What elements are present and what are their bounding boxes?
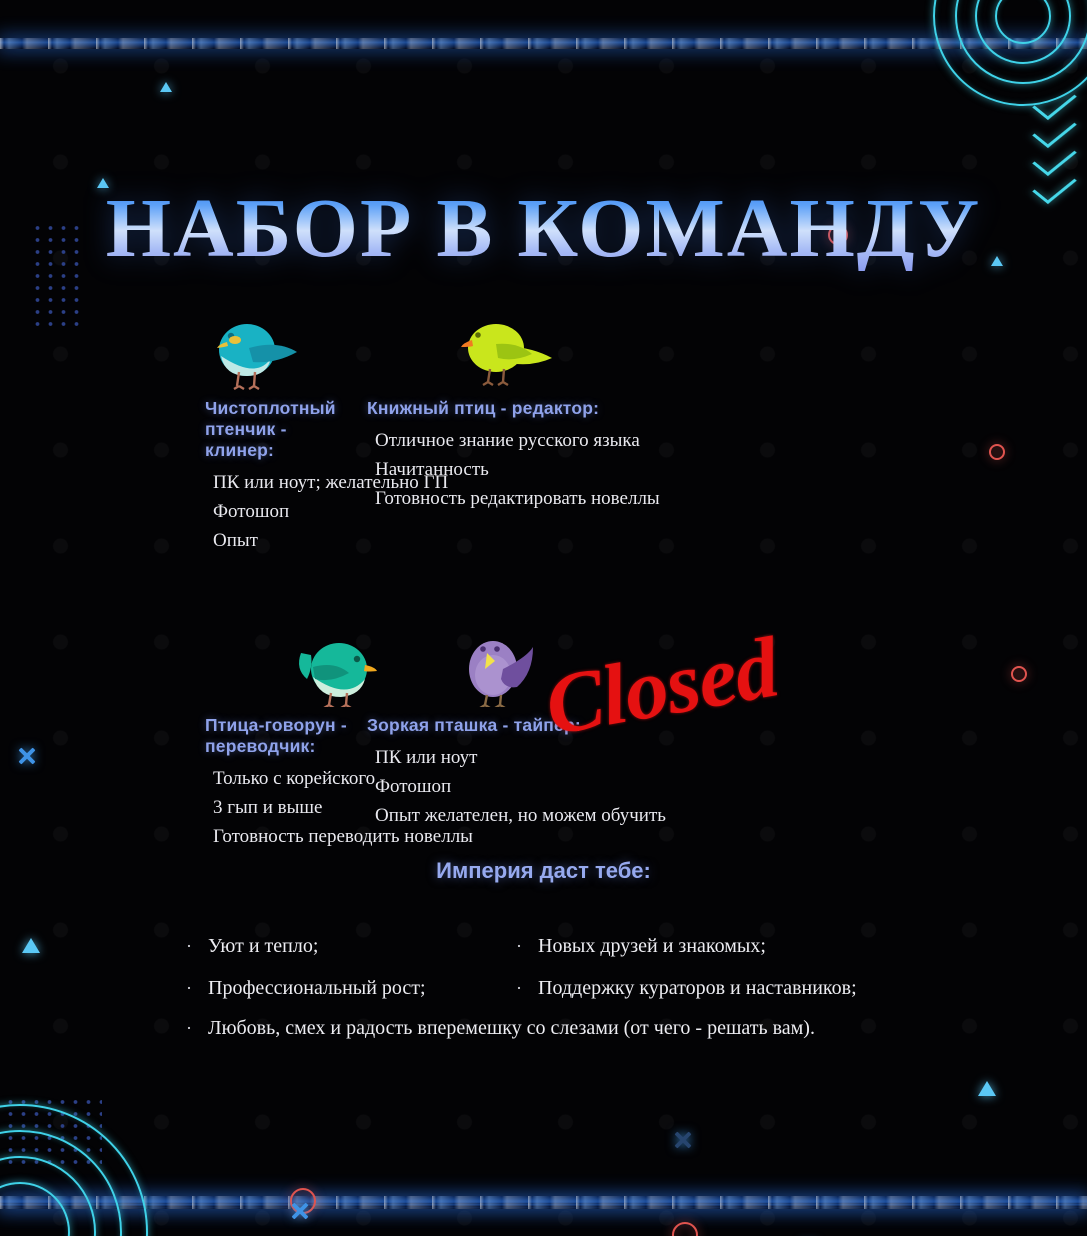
list-item: 3 гып и выше: [213, 793, 355, 822]
cyan-bird-icon: [205, 318, 355, 390]
glitch-streak-icon-bottom-thin: [0, 1203, 1087, 1207]
list-item-label: Любовь, смех и радость вперемешку со сле…: [208, 1007, 815, 1049]
role-requirements-editor: Отличное знание русского языка Начитанно…: [367, 426, 875, 513]
role-requirements-cleaner: ПК или ноут; желательно ГП Фотошоп Опыт: [205, 468, 355, 555]
list-item: ПК или ноут; желательно ГП: [213, 468, 355, 497]
list-item: Начитанность: [375, 455, 875, 484]
green-bird-icon: [367, 318, 875, 390]
glitch-streak-icon-top: [0, 38, 1087, 49]
dot-grid-icon-bottom-left: [4, 1096, 102, 1166]
glitch-streak-icon-bottom: [0, 1196, 1087, 1209]
role-title-editor: Книжный птиц - редактор:: [367, 398, 875, 419]
bullet-icon: ·: [516, 925, 522, 967]
list-item: Готовность редактировать новеллы: [375, 484, 875, 513]
poster-canvas: НАБОР В КОМАНДУ Чистоплотны: [0, 0, 1087, 1236]
list-item: Готовность переводить новеллы: [213, 822, 355, 851]
page-title: НАБОР В КОМАНДУ: [0, 187, 1087, 271]
list-item: Только с корейского: [213, 764, 355, 793]
bullet-icon: ·: [186, 1007, 192, 1049]
list-item: Опыт желателен, но можем обучить: [375, 801, 875, 830]
list-item-label: Поддержку кураторов и наставников;: [538, 967, 857, 1009]
list-item: · Поддержку кураторов и наставников;: [516, 967, 1087, 1009]
concentric-rings-icon-top-right: [911, 0, 1087, 124]
bullet-icon: ·: [186, 967, 192, 1009]
list-item: · Профессиональный рост;: [186, 967, 500, 1009]
role-requirements-translator: Только с корейского 3 гып и выше Готовно…: [205, 764, 355, 851]
x-marker-icon-2: [674, 1131, 692, 1149]
list-item: ПК или ноут: [375, 743, 875, 772]
list-item: Отличное знание русского языка: [375, 426, 875, 455]
list-item: · Новых друзей и знакомых;: [516, 925, 1087, 967]
role-requirements-typer: ПК или ноут Фотошоп Опыт желателен, но м…: [367, 743, 875, 830]
role-card-translator[interactable]: Птица-говорун - переводчик: Только с кор…: [0, 635, 355, 851]
role-card-editor[interactable]: Книжный птиц - редактор: Отличное знание…: [355, 318, 875, 555]
role-title-translator: Птица-говорун - переводчик:: [205, 715, 355, 757]
benefits-section: Империя даст тебе: · Уют и тепло; · Проф…: [0, 858, 1087, 1049]
list-item-label: Новых друзей и знакомых;: [538, 925, 766, 967]
list-item: Фотошоп: [213, 497, 355, 526]
benefits-columns: · Уют и тепло; · Профессиональный рост; …: [0, 925, 1087, 1009]
teal-bird-icon: [205, 635, 355, 707]
roles-section: Чистоплотный птенчик - клинер: ПК или но…: [0, 318, 1087, 851]
benefits-column-right: · Новых друзей и знакомых; · Поддержку к…: [500, 925, 1087, 1009]
triangle-marker-icon-1: [160, 82, 172, 92]
bullet-icon: ·: [186, 925, 192, 967]
benefits-column-left: · Уют и тепло; · Профессиональный рост;: [0, 925, 500, 1009]
role-card-cleaner[interactable]: Чистоплотный птенчик - клинер: ПК или но…: [0, 318, 355, 555]
list-item-label: Уют и тепло;: [208, 925, 318, 967]
roles-row-top: Чистоплотный птенчик - клинер: ПК или но…: [0, 318, 1087, 555]
benefits-title: Империя даст тебе:: [0, 858, 1087, 884]
x-marker-icon-3: [291, 1202, 309, 1220]
circle-outline-marker-icon-4: [290, 1188, 316, 1214]
role-title-cleaner: Чистоплотный птенчик - клинер:: [205, 398, 355, 461]
list-item-label: Профессиональный рост;: [208, 967, 426, 1009]
list-item: Фотошоп: [375, 772, 875, 801]
list-item-full-width: · Любовь, смех и радость вперемешку со с…: [0, 1007, 1087, 1049]
list-item: Опыт: [213, 526, 355, 555]
circle-outline-marker-icon-5: [672, 1222, 698, 1236]
triangle-marker-icon-5: [978, 1081, 996, 1096]
bullet-icon: ·: [516, 967, 522, 1009]
concentric-rings-icon-bottom-left: [0, 1104, 152, 1236]
list-item: · Уют и тепло;: [186, 925, 500, 967]
